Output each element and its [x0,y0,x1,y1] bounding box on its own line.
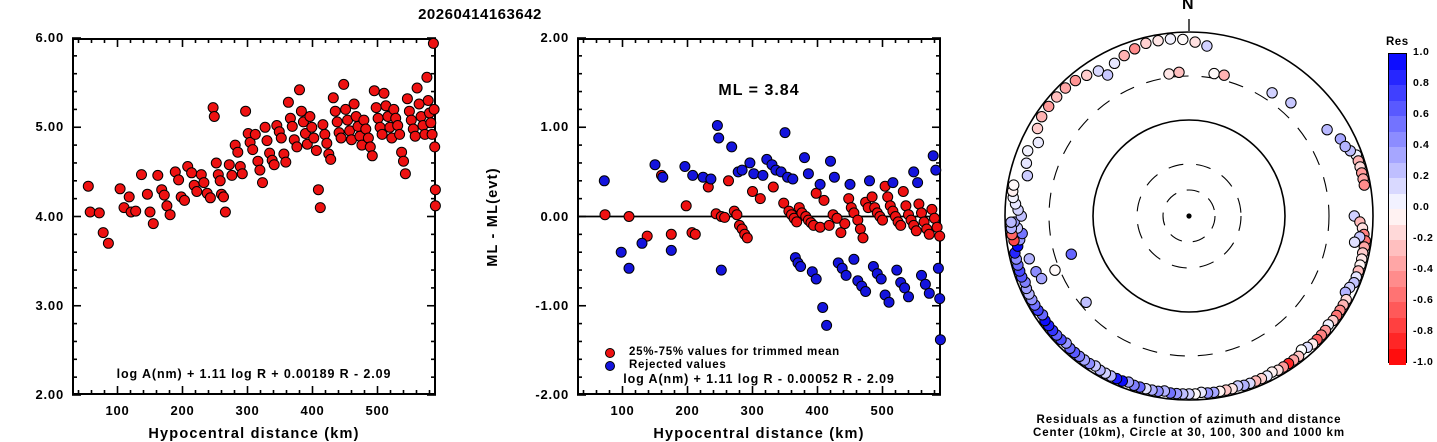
data-point [148,219,158,229]
data-point [844,194,854,204]
data-point [840,219,850,229]
data-point [878,215,888,225]
data-point [237,169,247,179]
data-point [287,121,297,131]
data-point [322,138,332,148]
data-point [913,178,923,188]
y-tick-label: 1.00 [515,119,569,134]
epicenter-center-dot [1186,213,1191,218]
station-marker [1060,83,1070,93]
data-point [896,220,906,230]
page-title: 20260414163642 [0,6,960,23]
data-point [768,182,778,192]
station-marker [1022,171,1032,181]
figure-root: 20260414163642 1002003004005006.005.004.… [0,0,1437,441]
colorbar-tick-label: -0.4 [1413,263,1434,275]
station-marker [1178,34,1188,44]
x-tick-label: 500 [859,403,907,418]
data-point [402,94,412,104]
station-marker [1037,112,1047,122]
station-marker [1006,217,1016,227]
data-point [836,228,846,238]
data-point [732,210,742,220]
data-point [180,195,190,205]
plot1-canvas [72,38,436,395]
plot1-x-axis-label: Hypocentral distance (km) [72,426,436,442]
y-tick-label: 5.00 [10,119,64,134]
polar-caption-line1: Residuals as a function of azimuth and d… [939,414,1437,427]
station-marker [1141,38,1151,48]
station-marker [1050,265,1060,275]
y-tick-label: -2.00 [515,387,569,402]
data-point [399,156,409,166]
data-point [803,169,813,179]
data-point [876,274,886,284]
data-point [849,254,859,264]
data-point [258,178,268,188]
x-tick-label: 400 [794,403,842,418]
data-point [690,229,700,239]
x-tick-label: 100 [599,403,647,418]
data-point [892,265,902,275]
station-marker [1286,98,1296,108]
data-point [917,208,927,218]
station-marker [1033,137,1043,147]
data-point [745,158,755,168]
data-point [616,247,626,257]
data-point [379,88,389,98]
station-marker [1081,297,1091,307]
data-point [85,207,95,217]
y-tick-label: 2.00 [10,387,64,402]
station-marker [1219,70,1229,80]
north-label: N [1182,0,1194,14]
data-point [429,104,439,114]
colorbar-band [1389,225,1406,241]
data-point [414,99,424,109]
data-point [315,203,325,213]
x-tick-label: 400 [289,403,337,418]
data-point [650,160,660,170]
data-point [406,115,416,125]
station-marker [1130,44,1140,54]
colorbar-tick-label: 0.4 [1413,139,1429,151]
data-point [208,103,218,113]
y-tick-label: 4.00 [10,209,64,224]
data-point [192,187,202,197]
colorbar-band [1389,116,1406,132]
data-point [829,172,839,182]
colorbar-band [1389,163,1406,179]
data-point [295,85,305,95]
colorbar-tick-label: -1.0 [1413,356,1434,368]
data-point [115,184,125,194]
data-point [755,194,765,204]
polar-caption-line2: Center (10km), Circle at 30, 100, 300 an… [939,427,1437,440]
data-point [748,187,758,197]
data-point [153,170,163,180]
data-point [359,115,369,125]
data-point [332,117,342,127]
data-point [924,229,934,239]
station-marker [1202,41,1212,51]
colorbar-band [1389,101,1406,117]
data-point [423,96,433,106]
colorbar-band [1389,209,1406,225]
station-marker [1066,249,1076,259]
data-point [706,174,716,184]
data-point [373,113,383,123]
polar-caption: Residuals as a function of azimuth and d… [939,414,1437,440]
data-point [637,238,647,248]
data-point [865,176,875,186]
data-point [720,212,730,222]
data-point [328,93,338,103]
station-marker [1165,34,1175,44]
colorbar-band [1389,240,1406,256]
data-point [363,133,373,143]
station-marker [1009,180,1019,190]
station-marker [1164,69,1174,79]
station-marker [1340,141,1350,151]
colorbar-tick-label: 0.2 [1413,170,1429,182]
data-point [276,133,286,143]
legend-marker-1 [605,348,615,358]
colorbar-band [1389,147,1406,163]
colorbar-gradient [1388,53,1407,363]
colorbar-band [1389,132,1406,148]
data-point [811,274,821,284]
data-point [174,175,184,185]
data-point [311,146,321,156]
data-point [209,112,219,122]
colorbar-tick-label: -0.6 [1413,294,1434,306]
data-point [428,38,438,48]
data-point [935,335,945,345]
data-point [389,104,399,114]
colorbar-tick-label: 0.6 [1413,108,1429,120]
data-point [339,79,349,89]
data-point [724,176,734,186]
data-point [269,160,279,170]
colorbar-band [1389,194,1406,210]
data-point [224,160,234,170]
colorbar-band [1389,349,1406,365]
station-marker [1174,67,1184,77]
data-point [716,265,726,275]
data-point [326,154,336,164]
colorbar-band [1389,302,1406,318]
legend-label-2: Rejected values [629,359,726,371]
data-point [199,178,209,188]
data-point [320,129,330,139]
data-point [365,142,375,152]
data-point [94,208,104,218]
station-marker [1109,58,1119,68]
y-tick-label: 6.00 [10,30,64,45]
data-point [727,142,737,152]
data-point [861,287,871,297]
data-point [658,172,668,182]
data-point [205,193,215,203]
colorbar-band [1389,271,1406,287]
data-point [898,187,908,197]
colorbar-title: Res [1386,36,1409,48]
data-point [318,120,328,130]
x-tick-label: 200 [159,403,207,418]
data-point [397,147,407,157]
data-point [422,72,432,82]
data-point [758,170,768,180]
data-point [931,165,941,175]
data-point [410,131,420,141]
data-point [935,294,945,304]
colorbar-band [1389,178,1406,194]
series-1-points [83,38,440,248]
data-point [241,106,251,116]
data-point [137,170,147,180]
data-point [307,122,317,132]
data-point [145,207,155,217]
station-marker [1190,37,1200,47]
data-point [142,189,152,199]
data-point [666,245,676,255]
x-tick-label: 300 [224,403,272,418]
plot2-equation-label: log A(nm) + 1.11 log R - 0.00052 R - 2.0… [577,372,941,386]
station-marker [1102,70,1112,80]
station-marker [1119,50,1129,60]
data-point [904,292,914,302]
data-point [742,233,752,243]
data-point [427,129,437,139]
data-point [845,179,855,189]
y-tick-label: 3.00 [10,298,64,313]
data-point [131,206,141,216]
data-point [924,288,934,298]
data-point [400,169,410,179]
data-point [624,263,634,273]
data-point [260,122,270,132]
data-point [935,231,945,241]
data-point [292,142,302,152]
x-tick-label: 100 [94,403,142,418]
data-point [305,112,315,122]
colorbar-band [1389,85,1406,101]
data-point [211,158,221,168]
station-marker [1032,123,1042,133]
data-point [233,147,243,157]
data-point [867,192,877,202]
data-point [749,169,759,179]
data-point [430,142,440,152]
data-point [412,83,422,93]
data-point [920,279,930,289]
station-marker [1359,180,1369,190]
data-point [98,228,108,238]
data-point [349,99,359,109]
polar-canvas [989,16,1389,416]
data-point [800,153,810,163]
data-point [281,157,291,167]
legend-marker-2 [605,361,615,371]
data-point [712,121,722,131]
station-marker [1021,158,1031,168]
data-point [369,86,379,96]
data-point [884,297,894,307]
data-point [737,165,747,175]
station-marker [1036,273,1046,283]
data-point [841,270,851,280]
station-marker [1209,68,1219,78]
data-point [624,212,634,222]
colorbar-band [1389,287,1406,303]
data-point [187,168,197,178]
colorbar-band [1389,256,1406,272]
colorbar-tick-label: 1.0 [1413,46,1429,58]
data-point [933,263,943,273]
data-point [220,207,230,217]
data-point [822,320,832,330]
data-point [367,151,377,161]
colorbar-band [1389,54,1406,70]
data-point [227,170,237,180]
data-point [377,129,387,139]
data-point [792,217,802,227]
colorbar-tick-label: 0.8 [1413,77,1429,89]
station-marker [1024,254,1034,264]
data-point [336,133,346,143]
data-point [430,201,440,211]
colorbar-tick-label: -0.8 [1413,325,1434,337]
data-point [928,151,938,161]
y-tick-label: -1.00 [515,298,569,313]
plot2-y-axis-label: ML - ML(evt) [485,38,501,395]
data-point [815,179,825,189]
station-marker [1070,75,1080,85]
y-tick-label: 2.00 [515,30,569,45]
data-point [159,190,169,200]
data-point [313,185,323,195]
data-point [680,162,690,172]
data-point [819,195,829,205]
data-point [330,106,340,116]
data-point [253,156,263,166]
data-point [909,167,919,177]
data-point [262,136,272,146]
data-point [681,201,691,211]
station-marker [1153,36,1163,46]
data-point [818,303,828,313]
station-marker [1052,92,1062,102]
data-point [250,129,260,139]
x-tick-label: 500 [354,403,402,418]
station-marker [1044,101,1054,111]
data-point [430,185,440,195]
y-tick-label: 0.00 [515,209,569,224]
data-point [215,176,225,186]
data-point [688,170,698,180]
data-point [361,124,371,134]
data-point [815,222,825,232]
data-point [666,229,676,239]
data-point [824,220,834,230]
data-point [395,129,405,139]
data-point [780,128,790,138]
plot2-ml-annotation: ML = 3.84 [577,82,941,100]
colorbar-tick-label: 0.0 [1413,201,1429,213]
data-point [393,121,403,131]
plot1-equation-label: log A(nm) + 1.11 log R + 0.00189 R - 2.0… [72,367,436,381]
data-point [124,192,134,202]
data-point [796,262,806,272]
data-point [426,118,436,128]
data-point [858,233,868,243]
station-marker [1267,88,1277,98]
x-tick-label: 300 [729,403,777,418]
station-marker [1023,146,1033,156]
station-marker [1082,70,1092,80]
data-point [599,176,609,186]
x-tick-label: 200 [664,403,712,418]
colorbar-band [1389,70,1406,86]
data-point [371,103,381,113]
data-point [248,145,258,155]
station-marker [1322,125,1332,135]
data-point [83,181,93,191]
data-point [309,133,319,143]
colorbar-tick-label: -0.2 [1413,232,1434,244]
legend-label-1: 25%-75% values for trimmed mean [629,346,840,358]
data-point [911,226,921,236]
data-point [788,174,798,184]
data-point [404,106,414,116]
colorbar-band [1389,318,1406,334]
data-point [255,165,265,175]
station-marker [1349,237,1359,247]
data-point [826,156,836,166]
data-point [165,210,175,220]
plot2-x-axis-label: Hypocentral distance (km) [577,426,941,442]
data-point [600,210,610,220]
data-point [103,238,113,248]
data-point [714,133,724,143]
colorbar-band [1389,333,1406,349]
data-point [888,178,898,188]
data-point [219,192,229,202]
data-point [283,97,293,107]
